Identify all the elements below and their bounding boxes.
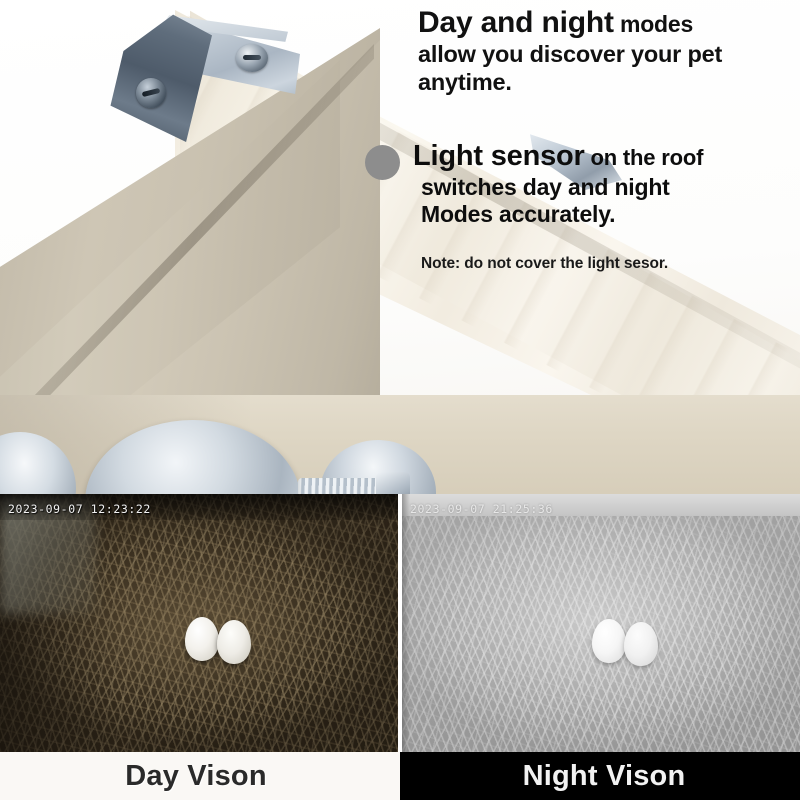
headline-1-line2: allow you discover your pet <box>418 41 790 68</box>
caption-day-label: Day Vison <box>125 760 267 793</box>
marketing-copy: Day and night modes allow you discover y… <box>0 0 800 300</box>
gray-dot-icon <box>365 145 400 180</box>
headline-day-night-modes: Day and night modes allow you discover y… <box>418 6 790 96</box>
egg-night-right <box>624 622 658 666</box>
caption-night: Night Vison <box>400 752 800 800</box>
headline-light-sensor: Light sensor on the roof switches day an… <box>413 140 793 227</box>
caption-night-label: Night Vison <box>523 760 686 793</box>
timestamp-night: 2023-09-07 21:25:36 <box>410 502 553 516</box>
bolt-head <box>376 472 410 496</box>
caption-bar: Day Vison Night Vison <box>0 752 800 800</box>
egg-night-left <box>592 619 626 663</box>
egg-day-right <box>217 620 251 664</box>
headline-1-strong: Day and night <box>418 6 614 39</box>
day-night-comparison: 2023-09-07 12:23:22 2023-09-07 21:25:36 … <box>0 494 800 800</box>
headline-1-line3: anytime. <box>418 69 790 96</box>
note-text: Note: do not cover the light sesor. <box>421 255 668 273</box>
headline-2-strong: Light sensor <box>413 140 585 172</box>
caption-day: Day Vison <box>0 752 400 800</box>
headline-2-line2: switches day and night <box>421 174 793 200</box>
headline-1-rest: modes <box>614 11 693 37</box>
headline-2-line3: Modes accurately. <box>421 201 793 227</box>
headline-2-rest: on the roof <box>585 145 704 170</box>
timestamp-day: 2023-09-07 12:23:22 <box>8 502 151 516</box>
product-infographic: Day and night modes allow you discover y… <box>0 0 800 800</box>
nest-night-edge-shadow <box>402 494 410 752</box>
egg-day-left <box>185 617 219 661</box>
